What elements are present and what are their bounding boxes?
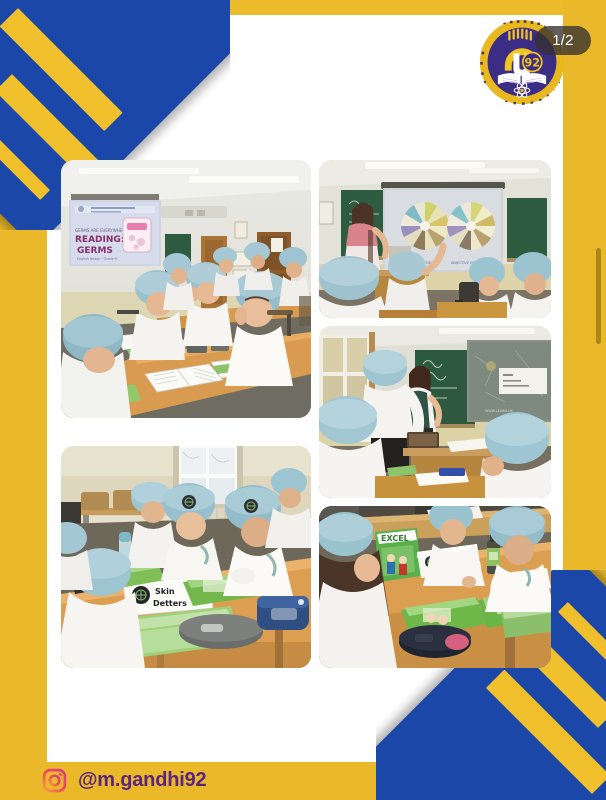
- collage-photo-teacher-projector-wheels[interactable]: ADJECTIVE ENDINGS ADJECTIVE ENDINGS: [319, 160, 551, 318]
- page-counter: 1/2: [535, 26, 591, 55]
- svg-text:WWW.LEARN.UK: WWW.LEARN.UK: [485, 409, 514, 413]
- collage-photo-group-work-desks[interactable]: Skin Detters: [61, 446, 311, 668]
- instagram-handle-text: @m.gandhi92: [78, 769, 206, 792]
- collage-photo-classroom-reading-germs[interactable]: GERMS ARE EVERYWHERE READING: GERMS Engl…: [61, 160, 311, 418]
- vertical-scrollbar-thumb[interactable]: [596, 248, 601, 344]
- instagram-icon: [42, 768, 67, 793]
- collage-photo-teacher-lecture[interactable]: WWW.LEARN.UK: [319, 326, 551, 498]
- poster-canvas: 92 1/2: [0, 0, 606, 800]
- svg-text:English lesson · Grade 9: English lesson · Grade 9: [77, 257, 117, 261]
- collage-photo-students-excel-books[interactable]: EXCEL: [319, 506, 551, 668]
- photo-collage: GERMS ARE EVERYWHERE READING: GERMS Engl…: [61, 160, 551, 668]
- instagram-handle-row[interactable]: @m.gandhi92: [42, 764, 206, 796]
- svg-text:EXCEL: EXCEL: [381, 534, 409, 543]
- svg-text:Detters: Detters: [153, 599, 187, 608]
- svg-text:READING:: READING:: [75, 235, 124, 245]
- svg-text:Skin: Skin: [155, 587, 175, 596]
- svg-text:92: 92: [525, 56, 541, 69]
- svg-text:GERMS: GERMS: [77, 246, 113, 256]
- svg-text:GERMS ARE EVERYWHERE: GERMS ARE EVERYWHERE: [75, 228, 128, 233]
